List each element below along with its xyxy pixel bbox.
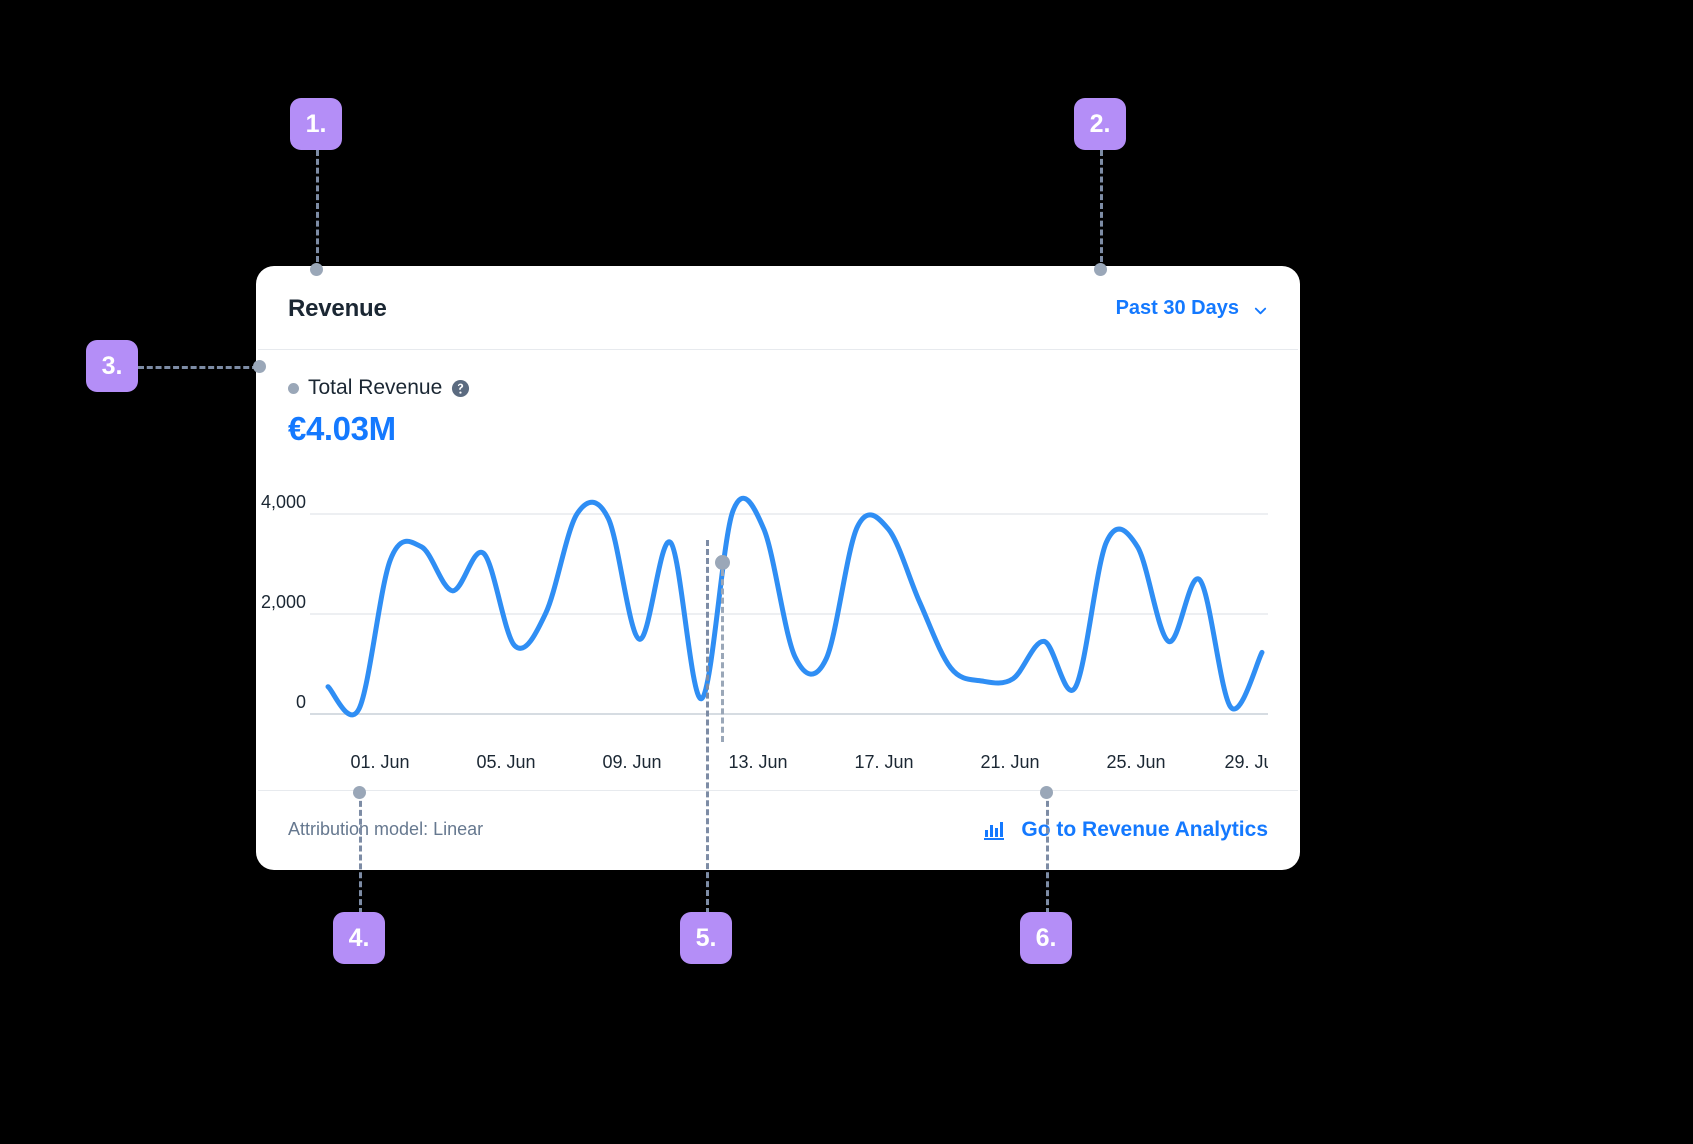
callout-badge-1-label: 1. [306,110,327,139]
callout-badge-5: 5. [680,912,732,964]
callout-4-anchor-dot [353,786,366,799]
callout-3-anchor-dot [253,360,266,373]
date-range-label: Past 30 Days [1116,297,1239,320]
chart-x-axis: 01. Jun 05. Jun 09. Jun 13. Jun 17. Jun … [288,744,1268,784]
svg-text:17. Jun: 17. Jun [854,752,913,772]
revenue-line-chart[interactable]: 4,000 2,000 0 [288,466,1268,742]
callout-badge-1: 1. [290,98,342,150]
callout-badge-6: 6. [1020,912,1072,964]
svg-text:21. Jun: 21. Jun [980,752,1039,772]
chart-canvas: 4,000 2,000 0 [288,466,1268,742]
chart-hover-marker[interactable] [715,555,730,570]
chart-y-ticks: 4,000 2,000 0 [261,492,306,712]
callout-badge-5-label: 5. [696,924,717,953]
callout-6-connector [1046,792,1049,914]
callout-1-connector [316,150,319,262]
svg-text:4,000: 4,000 [261,492,306,512]
metric-header: Total Revenue [288,376,1268,400]
card-footer: Attribution model: Linear Go to Revenue … [258,790,1298,868]
callout-2-connector [1100,150,1103,262]
chart-series-line [328,498,1262,715]
page-title: Revenue [288,295,387,323]
metric-label: Total Revenue [308,376,442,400]
callout-badge-3-label: 3. [102,352,123,381]
svg-text:25. Jun: 25. Jun [1106,752,1165,772]
callout-2-anchor-dot [1094,263,1107,276]
revenue-card: Revenue Past 30 Days Total Revenue [258,268,1298,868]
callout-badge-3: 3. [86,340,138,392]
callout-6-anchor-dot [1040,786,1053,799]
chevron-down-icon [1253,301,1268,316]
svg-text:0: 0 [296,692,306,712]
svg-text:09. Jun: 09. Jun [602,752,661,772]
metric-value: €4.03M [288,410,1268,448]
date-range-dropdown[interactable]: Past 30 Days [1116,297,1268,320]
svg-text:01. Jun: 01. Jun [350,752,409,772]
callout-4-connector [359,792,362,914]
callout-badge-2-label: 2. [1090,110,1111,139]
callout-5-connector [706,540,709,914]
svg-text:05. Jun: 05. Jun [476,752,535,772]
legend-dot-icon [288,383,299,394]
callout-badge-4-label: 4. [349,924,370,953]
callout-badge-2: 2. [1074,98,1126,150]
bar-chart-icon [983,819,1005,841]
help-circle-icon[interactable] [451,379,470,398]
svg-text:2,000: 2,000 [261,592,306,612]
screenshot-root: 1. 2. 3. 4. 5. 6. Revenue Past 30 Days [0,0,1693,1144]
callout-badge-4: 4. [333,912,385,964]
callout-1-anchor-dot [310,263,323,276]
callout-badge-6-label: 6. [1036,924,1057,953]
go-to-revenue-analytics-label: Go to Revenue Analytics [1021,818,1268,842]
card-header: Revenue Past 30 Days [258,268,1298,350]
attribution-model-note: Attribution model: Linear [288,819,483,840]
chart-gridlines [310,514,1268,714]
chart-x-ticks: 01. Jun 05. Jun 09. Jun 13. Jun 17. Jun … [288,744,1268,784]
chart-hover-guideline [721,570,724,742]
svg-text:13. Jun: 13. Jun [728,752,787,772]
go-to-revenue-analytics-link[interactable]: Go to Revenue Analytics [983,818,1268,842]
svg-text:29. Jun: 29. Jun [1224,752,1268,772]
callout-3-connector [138,366,258,369]
card-body: Total Revenue €4.03M [258,350,1298,790]
